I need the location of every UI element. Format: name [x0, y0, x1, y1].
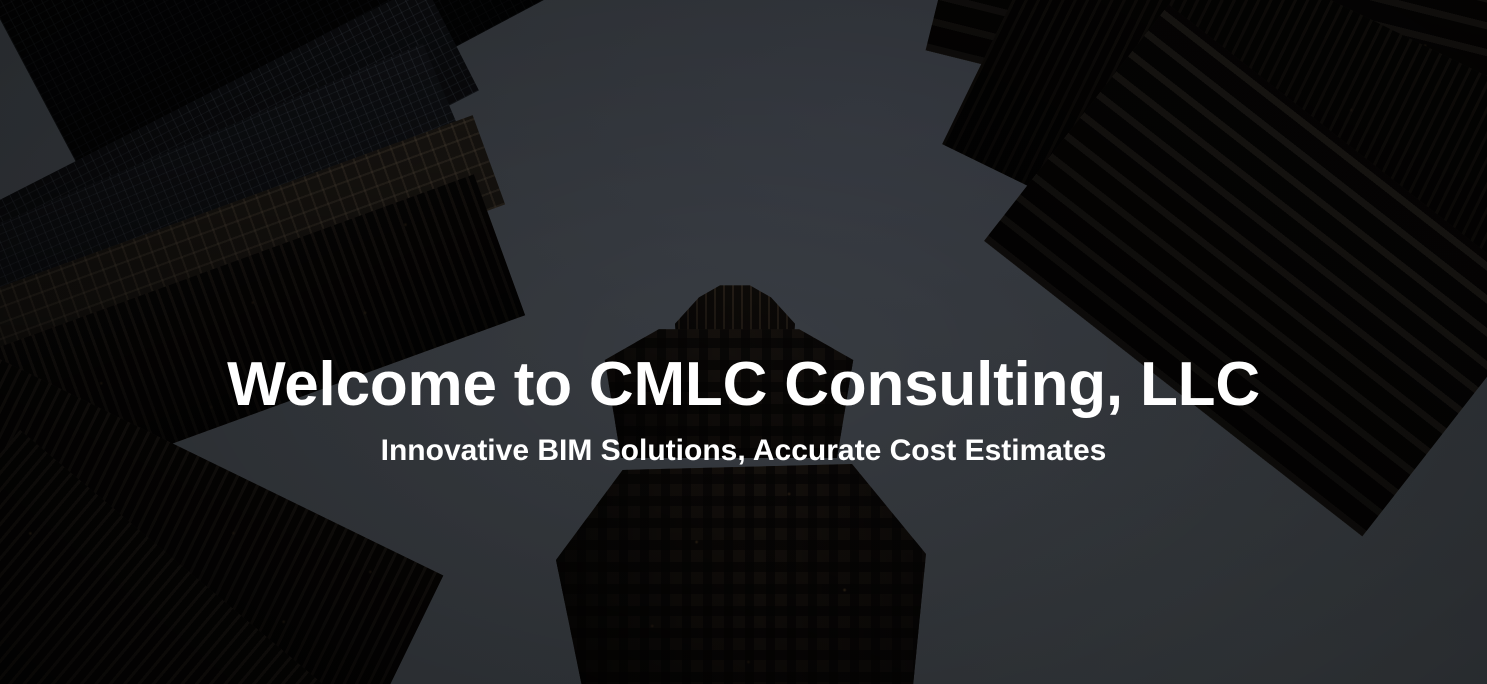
hero-text-block: Welcome to CMLC Consulting, LLC Innovati…	[0, 352, 1487, 469]
hero-title: Welcome to CMLC Consulting, LLC	[40, 352, 1447, 419]
hero-subtitle: Innovative BIM Solutions, Accurate Cost …	[40, 433, 1447, 469]
hero-dark-overlay	[0, 0, 1487, 684]
hero-banner: Welcome to CMLC Consulting, LLC Innovati…	[0, 0, 1487, 684]
